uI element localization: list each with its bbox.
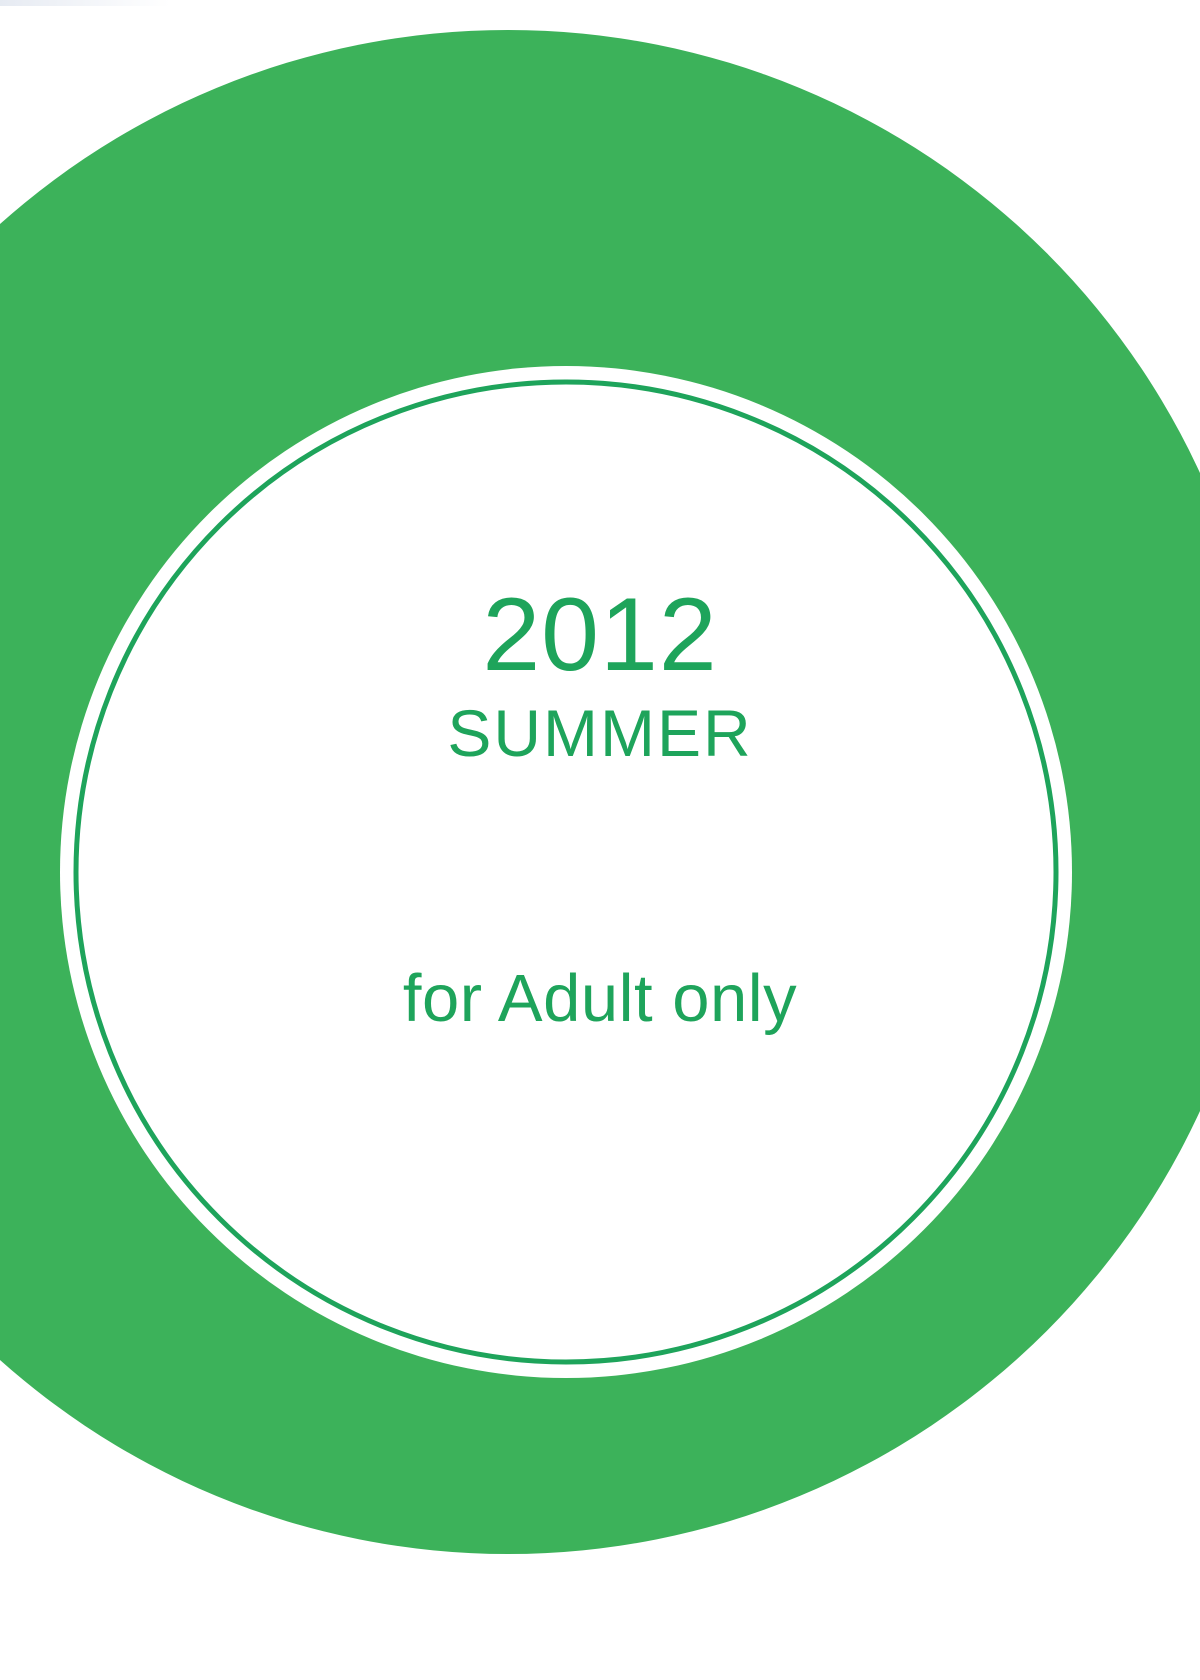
inner-white-circle bbox=[60, 366, 1072, 1378]
cover-page: 2012 SUMMER for Adult only bbox=[0, 0, 1200, 1680]
cover-artwork bbox=[0, 0, 1200, 1680]
